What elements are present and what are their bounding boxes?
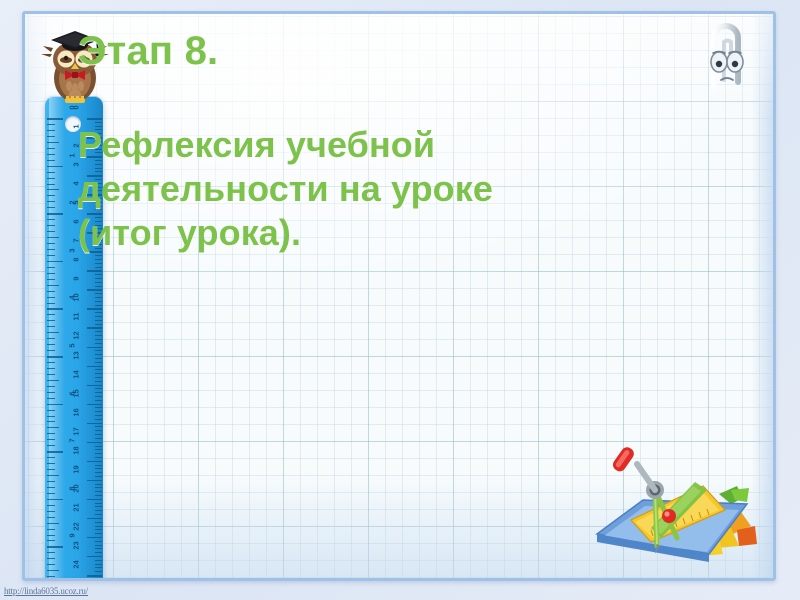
ruler-cm-label: 15: [72, 386, 81, 400]
ruler-cm-label: 24: [72, 557, 81, 571]
source-watermark-link[interactable]: http://linda6035.ucoz.ru/: [4, 586, 88, 596]
ruler-cm-label: 17: [72, 424, 81, 438]
school-supplies-icon: [591, 442, 761, 572]
body-line-2: деятельности на уроке: [78, 167, 718, 211]
page-title: Этап 8.: [78, 28, 718, 75]
body-line-3: (итог урока).: [78, 211, 718, 255]
ruler-cm-label: 16: [72, 405, 81, 419]
slide-text-block: Этап 8. Рефлексия учебной деятельности н…: [78, 28, 718, 255]
ruler-cm-label: 8: [72, 253, 81, 267]
slide-canvas: 0123456789100123456789101112131415161718…: [0, 0, 800, 600]
title-body-spacer: [78, 75, 718, 123]
ruler-cm-label: 18: [72, 443, 81, 457]
ruler-cm-label: 22: [72, 519, 81, 533]
ruler-cm-label: 19: [72, 462, 81, 476]
ruler-cm-label: 9: [72, 272, 81, 286]
ruler-cm-label: 25: [72, 577, 81, 582]
ruler-cm-label: 20: [72, 481, 81, 495]
ruler-cm-label: 21: [72, 500, 81, 514]
ruler-cm-label: 10: [72, 291, 81, 305]
ruler-inch-ticks: [47, 106, 69, 581]
ruler-cm-label: 12: [72, 329, 81, 343]
ruler-cm-label: 23: [72, 538, 81, 552]
ruler-cm-label: 13: [72, 348, 81, 362]
body-line-1: Рефлексия учебной: [78, 123, 718, 167]
ruler-cm-label: 11: [72, 310, 81, 324]
ruler-cm-label: 14: [72, 367, 81, 381]
